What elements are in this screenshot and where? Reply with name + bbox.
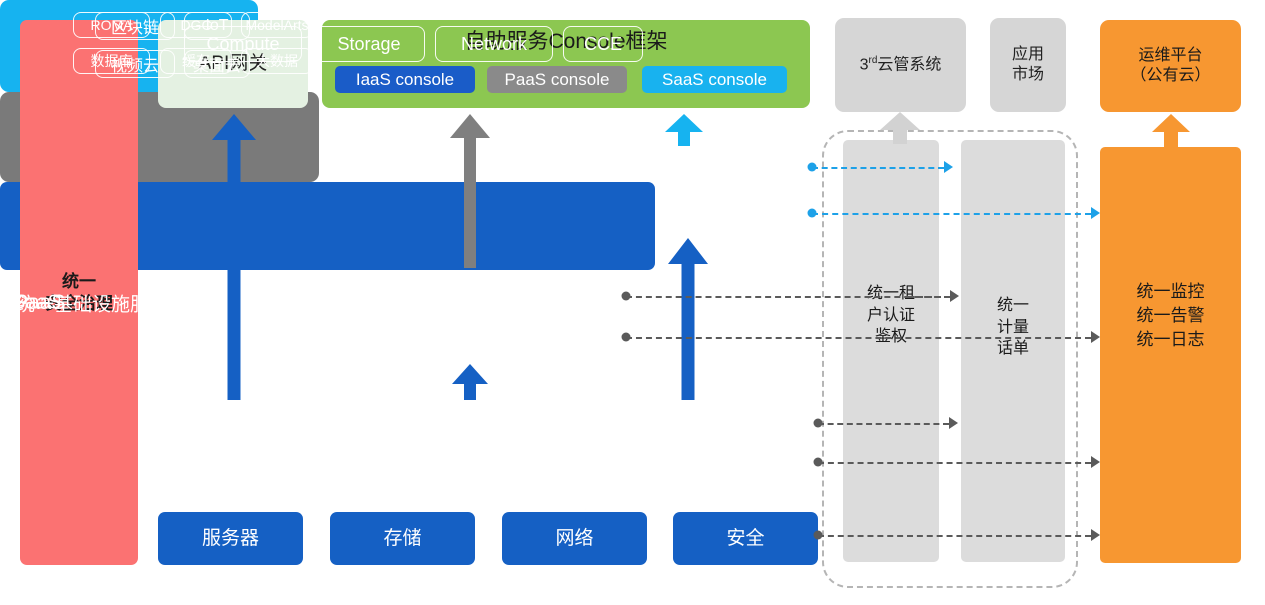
paas-item-database[interactable]: 数据库: [73, 48, 150, 74]
infra-item-security: 安全: [673, 512, 818, 565]
connector-saas-to-ops: [812, 213, 1091, 215]
tenant-auth-line-1: 统一租: [843, 283, 939, 305]
connector-iaas-to-metering: [818, 423, 949, 425]
metering-line-1: 统一: [961, 295, 1065, 317]
arrowhead-saas-to-ops: [1091, 207, 1100, 219]
third-party-suffix: 云管系统: [877, 56, 941, 73]
ops-platform-line-2: （公有云）: [1130, 66, 1210, 86]
app-market-line-1: 应用: [1012, 45, 1044, 65]
connector-iaas-to-ops: [818, 462, 1091, 464]
arrowhead-iaas-to-ops: [1091, 456, 1100, 468]
arrowhead-paas-to-metering: [950, 290, 959, 302]
iaas-item-storage[interactable]: Storage: [313, 26, 425, 62]
ops-column-line-1: 统一监控: [1100, 280, 1241, 304]
arrow-shared-to-third-party: [880, 112, 920, 144]
third-party-cloud-mgmt-box: 3rd云管系统: [835, 18, 966, 112]
arrowhead-infra-to-ops: [1091, 529, 1100, 541]
iaas-item-compute[interactable]: Compute: [184, 26, 302, 62]
arrow-ops-column-to-ops-platform: [1152, 114, 1190, 148]
arrow-saas-to-console: [665, 114, 703, 146]
arrowhead-paas-to-ops: [1091, 331, 1100, 343]
unified-metering-billing-column: 统一 计量 话单: [961, 140, 1065, 562]
connector-paas-to-metering: [626, 296, 950, 298]
arrow-paas-to-console: [450, 114, 490, 268]
arrow-iaas-to-saas: [668, 238, 708, 400]
arrowhead-saas-to-metering: [944, 161, 953, 173]
paas-console-chip[interactable]: PaaS console: [487, 66, 627, 93]
metering-line-2: 计量: [961, 317, 1065, 339]
connector-saas-to-metering: [812, 167, 944, 169]
infra-item-server: 服务器: [158, 512, 303, 565]
ops-platform-public-cloud-box: 运维平台 （公有云）: [1100, 20, 1241, 112]
ops-platform-line-1: 运维平台: [1130, 46, 1210, 66]
iaas-item-network[interactable]: Network: [435, 26, 553, 62]
connector-paas-to-ops: [626, 337, 1091, 339]
connector-auth-to-metering: [908, 296, 950, 298]
iaas-console-chip[interactable]: IaaS console: [335, 66, 475, 93]
app-market-box: 应用 市场: [990, 18, 1066, 112]
arrow-iaas-to-api-gateway: [212, 114, 256, 400]
arrow-iaas-to-paas: [452, 364, 488, 400]
architecture-diagram: 统一 安全治理 API网关 自助服务Console框架 IaaS console…: [0, 0, 1265, 605]
ops-column-line-2: 统一告警: [1100, 304, 1241, 328]
arrowhead-iaas-to-metering: [949, 417, 958, 429]
metering-line-3: 话单: [961, 338, 1065, 360]
infra-item-storage: 存储: [330, 512, 475, 565]
app-market-line-2: 市场: [1012, 65, 1044, 85]
unified-tenant-auth-column: 统一租 户认证 鉴权: [843, 140, 939, 562]
unified-monitoring-column: 统一监控 统一告警 统一日志: [1100, 147, 1241, 563]
connector-infra-to-ops: [818, 535, 1091, 537]
saas-console-chip[interactable]: SaaS console: [642, 66, 787, 93]
iaas-item-cce[interactable]: CCE: [563, 26, 643, 62]
third-party-prefix: 3: [860, 56, 869, 73]
tenant-auth-line-2: 户认证: [843, 305, 939, 327]
ops-column-line-3: 统一日志: [1100, 328, 1241, 352]
infra-item-network: 网络: [502, 512, 647, 565]
iaas-label: 统一基础设施服务: [16, 289, 168, 316]
paas-item-roma[interactable]: ROMA: [73, 12, 150, 38]
